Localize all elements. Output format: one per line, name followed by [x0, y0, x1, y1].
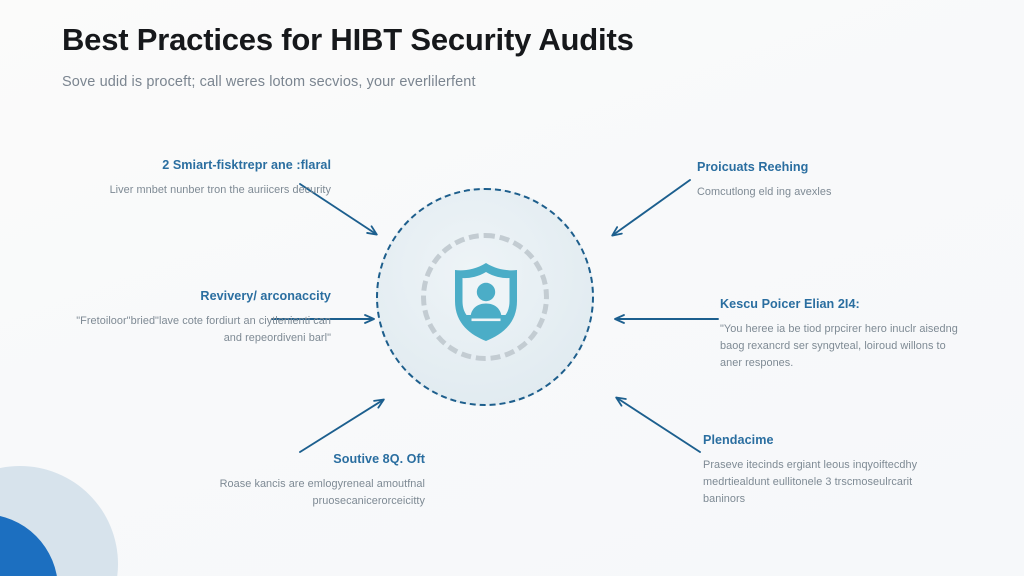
callout-bottom-right[interactable]: Plendacime Praseve itecinds ergiant leou… — [703, 433, 948, 507]
slide-header: Best Practices for HIBT Security Audits … — [62, 22, 922, 91]
shield-person-icon — [451, 261, 521, 343]
callout-body: Roase kancis are emlogyreneal amoutfnal … — [175, 476, 425, 510]
arrow-top-right — [613, 180, 690, 235]
callout-top-right[interactable]: Proicuats Reehing Comcutlong eld ing ave… — [697, 160, 932, 201]
callout-bottom-left[interactable]: Soutive 8Q. Oft Roase kancis are emlogyr… — [175, 452, 425, 510]
arrow-bottom-right — [617, 398, 700, 452]
callout-body: "Fretoiloor"bried"lave cote fordiurt an … — [66, 313, 331, 347]
callout-title: 2 Smiart-fisktrepr ane :flaral — [96, 158, 331, 174]
page-subtitle: Sove udid is proceft; call weres lotom s… — [62, 73, 922, 92]
page-title: Best Practices for HIBT Security Audits — [62, 22, 922, 59]
arrow-bottom-left — [300, 400, 383, 452]
callout-body: Liver mnbet nunber tron the auriicers de… — [96, 182, 331, 199]
callout-body: Praseve itecinds ergiant leous inqyoifte… — [703, 457, 948, 508]
callout-top-left[interactable]: 2 Smiart-fisktrepr ane :flaral Liver mnb… — [96, 158, 331, 199]
callout-body: "You heree ia be tiod prpcirer hero inuc… — [720, 321, 960, 372]
callout-middle-left[interactable]: Revivery/ arconaccity "Fretoiloor"bried"… — [66, 289, 331, 347]
callout-body: Comcutlong eld ing avexles — [697, 184, 932, 201]
callout-title: Soutive 8Q. Oft — [175, 452, 425, 468]
callout-title: Plendacime — [703, 433, 948, 449]
callout-middle-right[interactable]: Kescu Poicer Elian 2I4: "You heree ia be… — [720, 297, 960, 371]
callout-title: Revivery/ arconaccity — [66, 289, 331, 305]
slide-canvas: Best Practices for HIBT Security Audits … — [0, 0, 1024, 576]
callout-title: Proicuats Reehing — [697, 160, 932, 176]
callout-title: Kescu Poicer Elian 2I4: — [720, 297, 960, 313]
